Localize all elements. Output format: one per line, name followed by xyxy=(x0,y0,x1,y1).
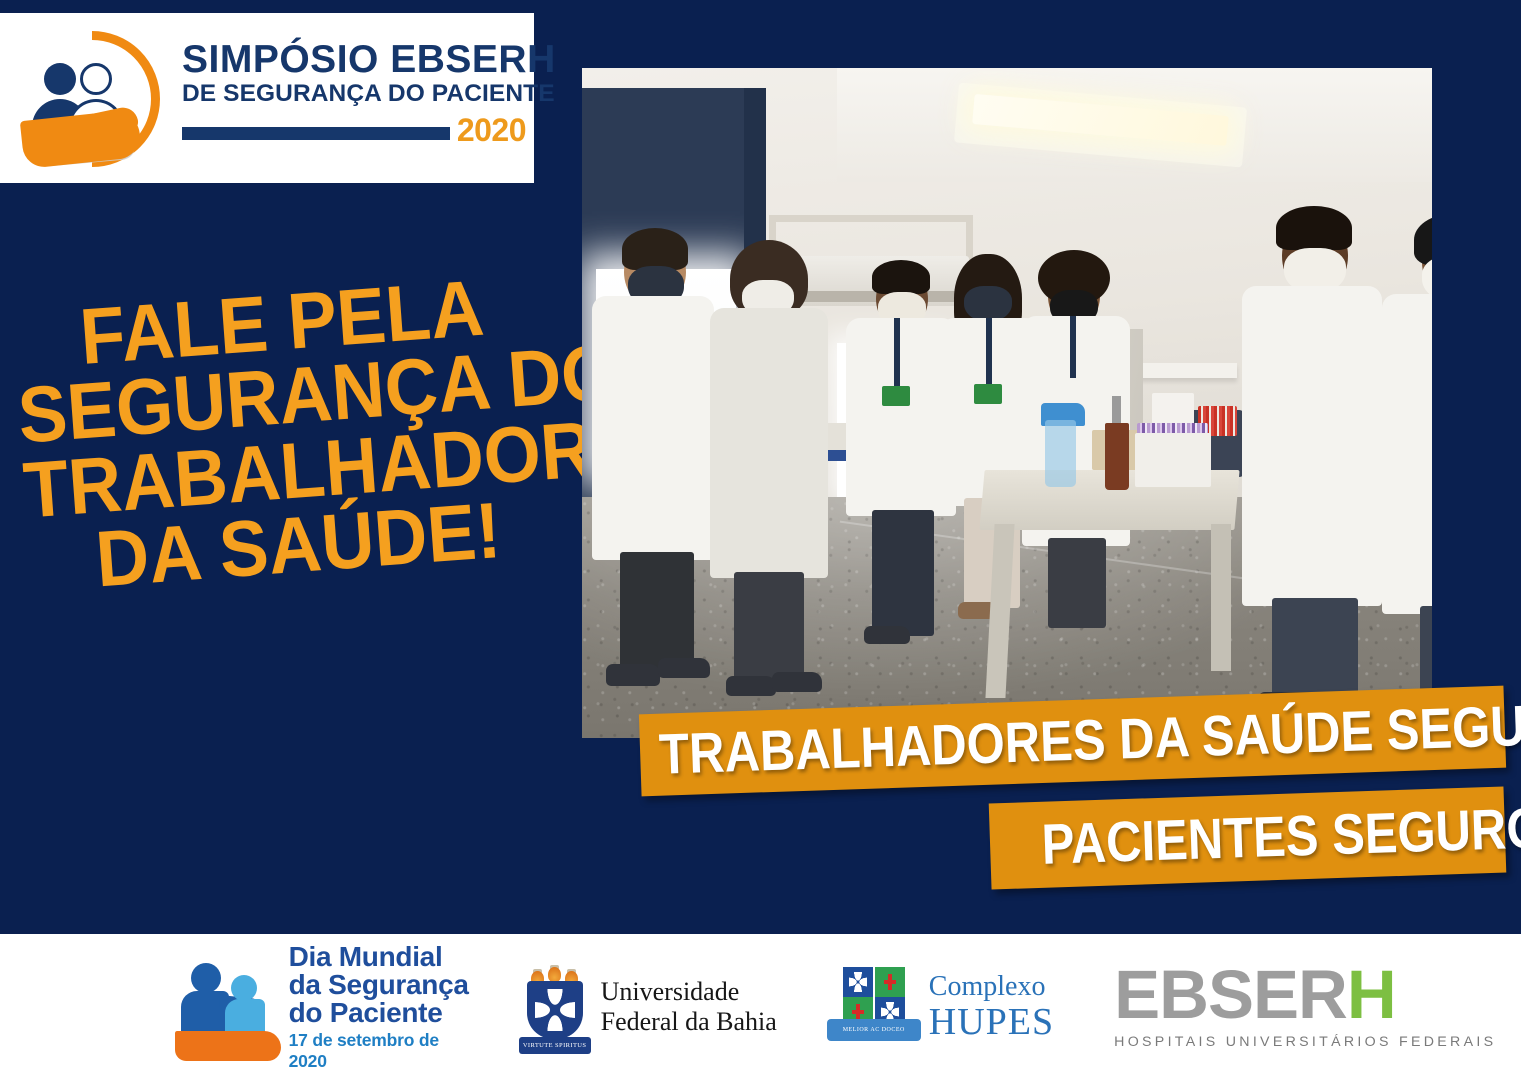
dia-mundial-line1: Dia Mundial xyxy=(289,943,475,971)
dia-mundial-icon xyxy=(175,953,281,1061)
banner-text-2: PACIENTES SEGUROS xyxy=(989,799,1521,875)
logo-ufba: VIRTUTE SPIRITUS Universidade Federal da… xyxy=(519,955,777,1060)
two-people-in-hand-icon xyxy=(18,23,168,173)
hupes-line2: HUPES xyxy=(929,1003,1054,1041)
event-logo-rule xyxy=(182,127,450,140)
event-logo-box: SIMPÓSIO EBSERH DE SEGURANÇA DO PACIENTE… xyxy=(0,13,534,183)
footer-logos: Dia Mundial da Segurança do Paciente 17 … xyxy=(0,934,1521,1080)
dia-mundial-line2: da Segurança xyxy=(289,971,475,999)
ufba-motto: VIRTUTE SPIRITUS xyxy=(519,1037,591,1054)
ebserh-word: EBSER xyxy=(1114,956,1347,1033)
ebserh-word-h: H xyxy=(1347,956,1396,1033)
hupes-motto: MELIOR AC DOCEO xyxy=(827,1019,921,1041)
dia-mundial-date: 17 de setembro de 2020 xyxy=(289,1030,475,1072)
ufba-crest-icon: VIRTUTE SPIRITUS xyxy=(519,955,591,1060)
dia-mundial-line3: do Paciente xyxy=(289,999,475,1027)
poster-canvas: SIMPÓSIO EBSERH DE SEGURANÇA DO PACIENTE… xyxy=(0,0,1521,1080)
logo-ebserh: EBSERH HOSPITAIS UNIVERSITÁRIOS FEDERAIS xyxy=(1114,964,1496,1049)
ufba-line2: Federal da Bahia xyxy=(601,1007,777,1037)
team-photo xyxy=(582,68,1432,738)
logo-hupes: MELIOR AC DOCEO Complexo HUPES xyxy=(833,963,1054,1051)
ebserh-subtitle: HOSPITAIS UNIVERSITÁRIOS FEDERAIS xyxy=(1114,1034,1496,1050)
event-logo-line2: DE SEGURANÇA DO PACIENTE xyxy=(182,81,526,107)
event-logo-text: SIMPÓSIO EBSERH DE SEGURANÇA DO PACIENTE… xyxy=(182,41,526,146)
event-logo-year: 2020 xyxy=(457,114,526,146)
hupes-line1: Complexo xyxy=(929,973,1054,1001)
hupes-crest-icon: MELIOR AC DOCEO xyxy=(833,963,915,1051)
banner-patients-safe: PACIENTES SEGUROS xyxy=(989,786,1507,889)
ufba-line1: Universidade xyxy=(601,977,777,1007)
logo-dia-mundial: Dia Mundial da Segurança do Paciente 17 … xyxy=(175,947,475,1067)
event-logo-line1: SIMPÓSIO EBSERH xyxy=(182,41,526,79)
headline: FALE PELA SEGURANÇA DOS TRABALHADORES DA… xyxy=(0,264,590,603)
